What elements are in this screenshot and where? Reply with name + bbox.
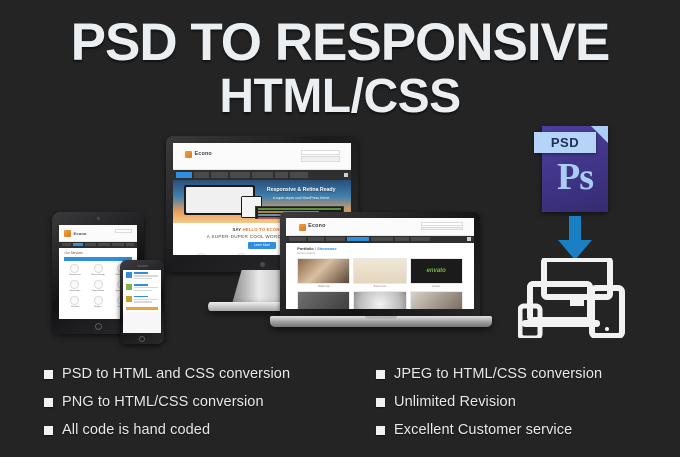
phone-mockup (120, 260, 164, 344)
headline-line-1: PSD TO RESPONSIVE (0, 16, 680, 69)
feed-lines (134, 284, 158, 293)
nav-item-contact[interactable] (290, 172, 308, 178)
portfolio-title-accent: / Showcase (315, 246, 337, 251)
feed-avatar (126, 284, 132, 290)
phone-home-button[interactable] (139, 336, 145, 342)
feature-text: JPEG to HTML/CSS conversion (394, 366, 602, 382)
laptop-site-header: Econo (286, 218, 474, 236)
feature-circle-icon (70, 264, 79, 273)
mockup-website-phone (123, 270, 161, 312)
down-arrow-icon (556, 216, 594, 260)
portfolio-title-text: Portfolio (297, 246, 313, 251)
site-header: Econo (173, 143, 351, 170)
laptop-navbar[interactable] (286, 236, 474, 242)
nav-menu-icon[interactable] (467, 237, 471, 241)
feed-avatar (126, 272, 132, 278)
tablet-search-input[interactable] (115, 229, 132, 232)
laptop-mockup: Econo (280, 212, 480, 318)
feed-item (126, 296, 158, 305)
portfolio-thumb-image (297, 258, 350, 284)
mockup-website-laptop: Econo (286, 218, 474, 309)
poster-canvas: PSD TO RESPONSIVE HTML/CSS Econo (0, 0, 680, 457)
bullet-square-icon (376, 370, 385, 379)
portfolio-item[interactable]: Cloud Sync (353, 291, 406, 309)
list-item: Unlimited Revision (376, 388, 602, 416)
portfolio-title: Portfolio / Showcase (297, 246, 462, 251)
nav-item-about[interactable] (73, 243, 83, 246)
tagline-highlight: HELLO TO ECONO (243, 227, 283, 232)
feature-label: Responsive (64, 274, 85, 277)
page-title: PSD TO RESPONSIVE HTML/CSS (0, 16, 680, 121)
portfolio-item[interactable]: Mobile App (297, 258, 350, 288)
feed-cta-button[interactable] (126, 307, 158, 310)
tablet-site-logo-text: Econo (73, 232, 86, 236)
feature-list-right: JPEG to HTML/CSS conversion Unlimited Re… (376, 360, 602, 444)
laptop-screen: Econo (286, 218, 474, 309)
hero-cta-button[interactable]: Learn More (248, 242, 276, 249)
bullet-square-icon (376, 398, 385, 407)
feed-lines (134, 272, 158, 281)
portfolio-item[interactable]: Retro Camera (297, 291, 350, 309)
feed-item (126, 284, 158, 293)
logo-cube-icon (64, 230, 71, 237)
features-title: Our Services (64, 251, 131, 255)
portfolio-thumb-image: envato (410, 258, 463, 284)
portfolio-caption: Envato (410, 285, 463, 288)
feature-item: Page Builder (87, 280, 108, 293)
nav-item-pages[interactable] (85, 243, 96, 246)
feature-item: Portfolio (64, 296, 85, 309)
bullet-square-icon (44, 370, 53, 379)
feature-label: Page Builder (87, 290, 108, 293)
nav-item-blog[interactable] (395, 237, 409, 241)
nav-item-features[interactable] (371, 237, 393, 241)
phone-screen (123, 270, 161, 333)
nav-item-features[interactable] (112, 243, 124, 246)
feature-icon-cloud: ☁ (195, 253, 208, 256)
site-search-input[interactable] (301, 150, 340, 156)
portfolio-item[interactable]: Tablet Reading (410, 291, 463, 309)
psd-banner: PSD (534, 132, 596, 153)
nav-item-home[interactable] (62, 243, 71, 246)
logo-cube-icon (185, 151, 192, 158)
portfolio-section: Portfolio / Showcase Recent projects Mob… (286, 243, 474, 309)
tablet-site-header: Econo (59, 225, 137, 242)
nav-item-blog[interactable] (126, 243, 134, 246)
portfolio-grid: Mobile App Brand Icons envato Envato (297, 258, 462, 309)
feature-text: PNG to HTML/CSS conversion (62, 394, 264, 410)
portfolio-caption: Brand Icons (353, 285, 406, 288)
tablet-camera-icon (97, 217, 100, 220)
psd-banner-label: PSD (551, 135, 579, 150)
headline-line-2: HTML/CSS (0, 73, 680, 121)
laptop-header-button[interactable] (421, 227, 462, 230)
nav-item-about[interactable] (194, 172, 209, 178)
portfolio-thumb-image (410, 291, 463, 309)
feed-lines (134, 296, 158, 305)
monitor-brand-dot (260, 262, 265, 267)
list-item: Excellent Customer service (376, 416, 602, 444)
feature-circle-icon (94, 296, 103, 305)
tablet-site-logo: Econo (64, 230, 86, 237)
laptop-search-input[interactable] (421, 222, 462, 226)
portfolio-thumb-image (297, 291, 350, 309)
list-item: All code is hand coded (44, 416, 290, 444)
hero-title: Responsive & Retina Ready (260, 187, 342, 194)
feature-circle-icon (94, 280, 103, 289)
feature-item: Responsive (64, 264, 85, 277)
laptop-site-logo: Econo (299, 224, 325, 231)
nav-item-about[interactable] (308, 237, 324, 241)
hero-subtitle: A super-duper cool WordPress theme (260, 196, 342, 200)
nav-menu-icon[interactable] (344, 173, 348, 177)
nav-item-contact[interactable] (411, 237, 430, 241)
feature-text: PSD to HTML and CSS conversion (62, 366, 290, 382)
feature-bullet-lists: PSD to HTML and CSS conversion PNG to HT… (0, 360, 680, 444)
feature-label: Shortcodes (64, 290, 85, 293)
laptop-base (270, 316, 492, 327)
psd-file-icon: Ps PSD (534, 120, 616, 212)
feature-circle-icon (94, 264, 103, 273)
site-logo-text: Econo (194, 152, 211, 157)
feature-label: Widgets (87, 306, 108, 309)
bullet-square-icon (44, 426, 53, 435)
feature-circle-icon (70, 280, 79, 289)
portfolio-caption: Mobile App (297, 285, 350, 288)
portfolio-item[interactable]: envato Envato (410, 258, 463, 288)
site-header-button[interactable] (301, 156, 340, 161)
portfolio-subtitle: Recent projects (297, 252, 462, 255)
feature-item: Shortcodes (64, 280, 85, 293)
laptop-site-logo-text: Econo (308, 224, 325, 229)
logo-cube-icon (299, 224, 306, 231)
photoshop-mark: Ps (542, 158, 608, 196)
nav-item-home[interactable] (289, 237, 306, 241)
nav-item-features[interactable] (252, 172, 273, 178)
portfolio-item[interactable]: Brand Icons (353, 258, 406, 288)
list-item: JPEG to HTML/CSS conversion (376, 360, 602, 388)
list-item: PNG to HTML/CSS conversion (44, 388, 290, 416)
phone-speaker-icon (137, 265, 148, 267)
feature-icon-pen: ✐ (235, 253, 248, 256)
bullet-square-icon (376, 426, 385, 435)
feature-circle-icon (70, 296, 79, 305)
feature-text: All code is hand coded (62, 422, 210, 438)
nav-item-home[interactable] (176, 172, 192, 178)
feature-label: Portfolio (64, 306, 85, 309)
feature-text: Excellent Customer service (394, 422, 572, 438)
tagline-prefix: SAY (232, 227, 241, 232)
site-navbar[interactable] (173, 170, 351, 180)
nav-item-portfolio[interactable] (98, 243, 110, 246)
tablet-navbar[interactable] (59, 242, 137, 248)
nav-item-pages[interactable] (211, 172, 228, 178)
portfolio-thumb-image (353, 291, 406, 309)
feature-item: Widgets (87, 296, 108, 309)
list-item: PSD to HTML and CSS conversion (44, 360, 290, 388)
responsive-devices-icon (518, 258, 636, 338)
nav-item-blog[interactable] (275, 172, 288, 178)
bullet-square-icon (44, 398, 53, 407)
nav-item-portfolio[interactable] (347, 237, 369, 241)
feature-text: Unlimited Revision (394, 394, 516, 410)
site-logo: Econo (185, 151, 211, 158)
feature-item: Retina Ready (87, 264, 108, 277)
feed-item (126, 272, 158, 281)
nav-item-pages[interactable] (326, 237, 345, 241)
nav-item-portfolio[interactable] (230, 172, 250, 178)
feed-avatar (126, 296, 132, 302)
tablet-home-button[interactable] (95, 323, 102, 330)
feature-list-left: PSD to HTML and CSS conversion PNG to HT… (44, 360, 290, 444)
feature-label: Retina Ready (87, 274, 108, 277)
portfolio-thumb-image (353, 258, 406, 284)
